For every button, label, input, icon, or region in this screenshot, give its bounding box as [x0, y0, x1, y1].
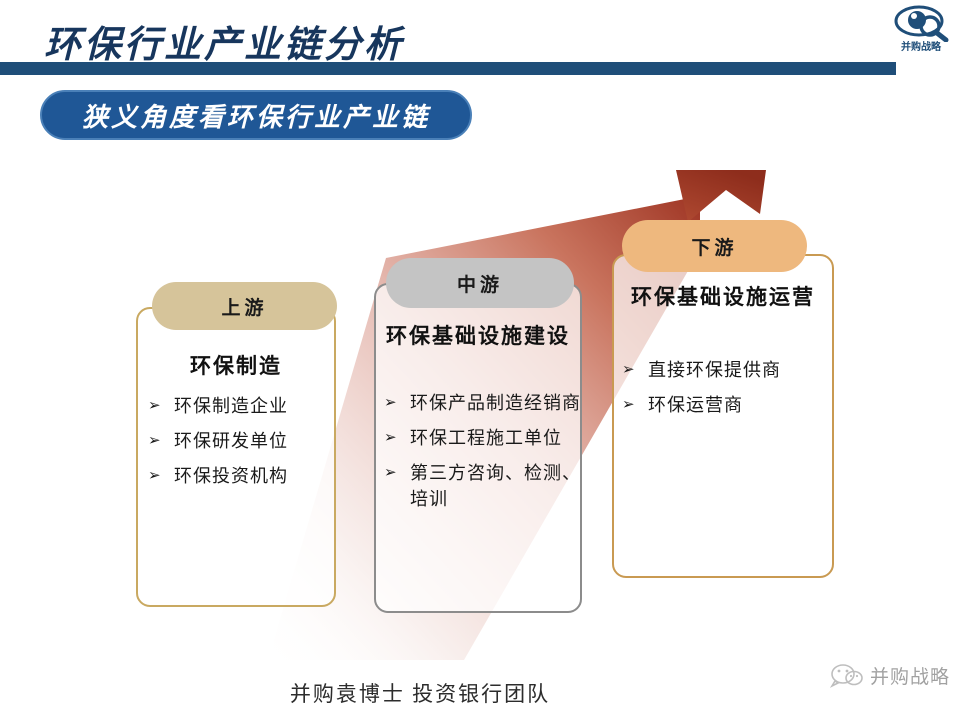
- footer-credit: 并购袁博士 投资银行团队: [0, 678, 840, 708]
- stage-upstream-pill-label: 上游: [221, 293, 267, 320]
- stage-midstream-pill-label: 中游: [457, 270, 503, 297]
- list-item: ➢ 第三方咨询、检测、培训: [384, 460, 584, 512]
- stage-downstream-pill-label: 下游: [691, 233, 737, 260]
- page-title: 环保行业产业链分析: [44, 14, 404, 68]
- list-item-label: 环保投资机构: [174, 463, 288, 489]
- section-subtitle-pill: 狭义角度看环保行业产业链: [40, 90, 472, 140]
- brand-logo-label: 并购战略: [890, 42, 952, 53]
- stage-midstream-pill: 中游: [386, 258, 574, 308]
- slide-root: 环保行业产业链分析 并购战略 狭义角度看环保行业产业链: [0, 0, 960, 720]
- list-item-label: 环保制造企业: [174, 393, 288, 419]
- list-item: ➢ 环保研发单位: [148, 428, 338, 454]
- stage-midstream-list: ➢ 环保产品制造经销商 ➢ 环保工程施工单位 ➢ 第三方咨询、检测、培训: [384, 390, 584, 521]
- bullet-arrow-icon: ➢: [622, 392, 642, 418]
- list-item: ➢ 环保运营商: [622, 392, 834, 418]
- bullet-arrow-icon: ➢: [384, 425, 404, 451]
- brand-logo: 并购战略: [890, 4, 952, 64]
- stage-upstream-pill: 上游: [152, 282, 337, 330]
- list-item: ➢ 直接环保提供商: [622, 357, 834, 383]
- title-divider-rule: [0, 62, 896, 75]
- eye-magnifier-logo-icon: [890, 4, 952, 42]
- list-item: ➢ 环保工程施工单位: [384, 425, 584, 451]
- bullet-arrow-icon: ➢: [384, 390, 404, 416]
- wechat-watermark-label: 并购战略: [870, 662, 950, 689]
- stage-midstream-heading: 环保基础设施建设: [374, 322, 582, 350]
- section-subtitle-label: 狭义角度看环保行业产业链: [82, 97, 430, 134]
- list-item: ➢ 环保投资机构: [148, 463, 338, 489]
- stage-upstream-list: ➢ 环保制造企业 ➢ 环保研发单位 ➢ 环保投资机构: [148, 393, 338, 498]
- bullet-arrow-icon: ➢: [148, 393, 168, 419]
- bullet-arrow-icon: ➢: [148, 463, 168, 489]
- list-item-label: 第三方咨询、检测、培训: [410, 460, 584, 512]
- stage-downstream-heading: 环保基础设施运营: [612, 283, 834, 311]
- list-item: ➢ 环保产品制造经销商: [384, 390, 584, 416]
- list-item: ➢ 环保制造企业: [148, 393, 338, 419]
- wechat-watermark: 并购战略: [830, 662, 950, 689]
- stage-downstream-pill: 下游: [622, 220, 807, 272]
- stage-upstream-heading: 环保制造: [136, 352, 336, 380]
- wechat-icon: [830, 663, 864, 689]
- bullet-arrow-icon: ➢: [622, 357, 642, 383]
- list-item-label: 直接环保提供商: [648, 357, 781, 383]
- bullet-arrow-icon: ➢: [148, 428, 168, 454]
- list-item-label: 环保工程施工单位: [410, 425, 562, 451]
- stage-downstream-list: ➢ 直接环保提供商 ➢ 环保运营商: [622, 357, 834, 427]
- list-item-label: 环保运营商: [648, 392, 743, 418]
- list-item-label: 环保产品制造经销商: [410, 390, 581, 416]
- list-item-label: 环保研发单位: [174, 428, 288, 454]
- bullet-arrow-icon: ➢: [384, 460, 404, 486]
